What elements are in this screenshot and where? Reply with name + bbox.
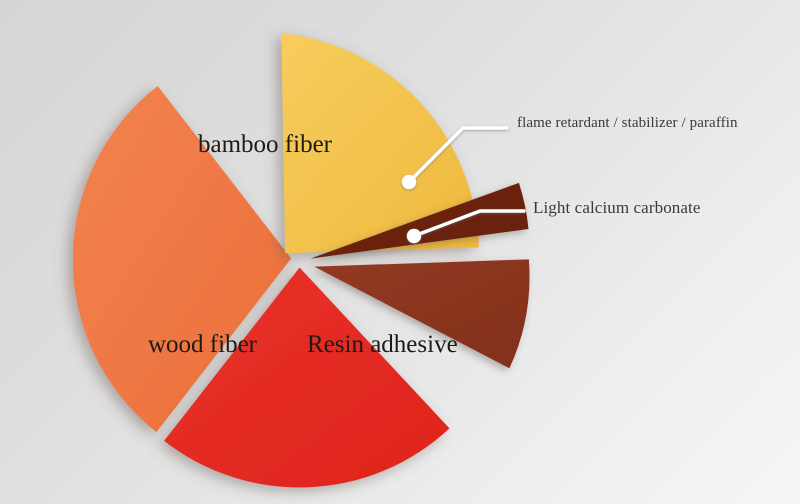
callout-dot-light-calcium-carbonate — [407, 229, 421, 243]
pie-chart-figure: bamboo fiber wood fiber Resin adhesive f… — [0, 0, 800, 504]
pie-slices — [73, 33, 530, 487]
callout-dot-flame-retardant — [402, 175, 416, 189]
pie-chart-canvas — [0, 0, 800, 504]
